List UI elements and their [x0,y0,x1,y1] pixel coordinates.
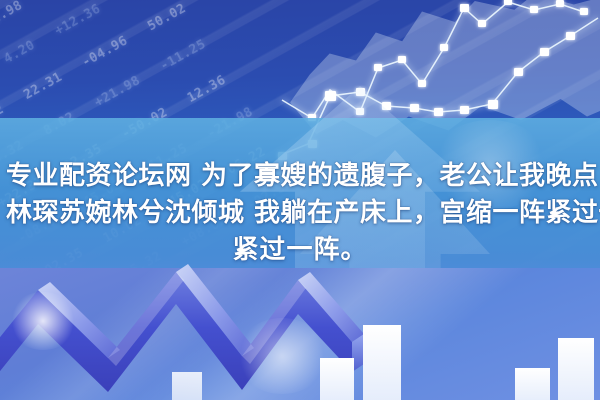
caption-line-2: 林琛苏婉林兮沈倾城 我躺在产床上，宫缩一阵紧过一 [6,195,594,232]
bar-chart-bar [320,358,354,400]
bar-chart-bar [363,325,401,400]
caption-line-3: 紧过一阵。 [6,232,594,269]
caption-overlay: 专业配资论坛网 为了寡嫂的遗腹子，老公让我晚点 林琛苏婉林兮沈倾城 我躺在产床上… [0,158,600,269]
bar-chart-bar [172,372,202,400]
bar-chart-bar [515,368,550,400]
bar-chart-bar [558,338,594,400]
caption-line-1: 专业配资论坛网 为了寡嫂的遗腹子，老公让我晚点 [6,158,594,195]
zigzag-growth-ribbon [0,246,500,400]
banner-image: +12.36 -02.35 +45.02 21.98 -11.25 06.22 … [0,0,600,400]
